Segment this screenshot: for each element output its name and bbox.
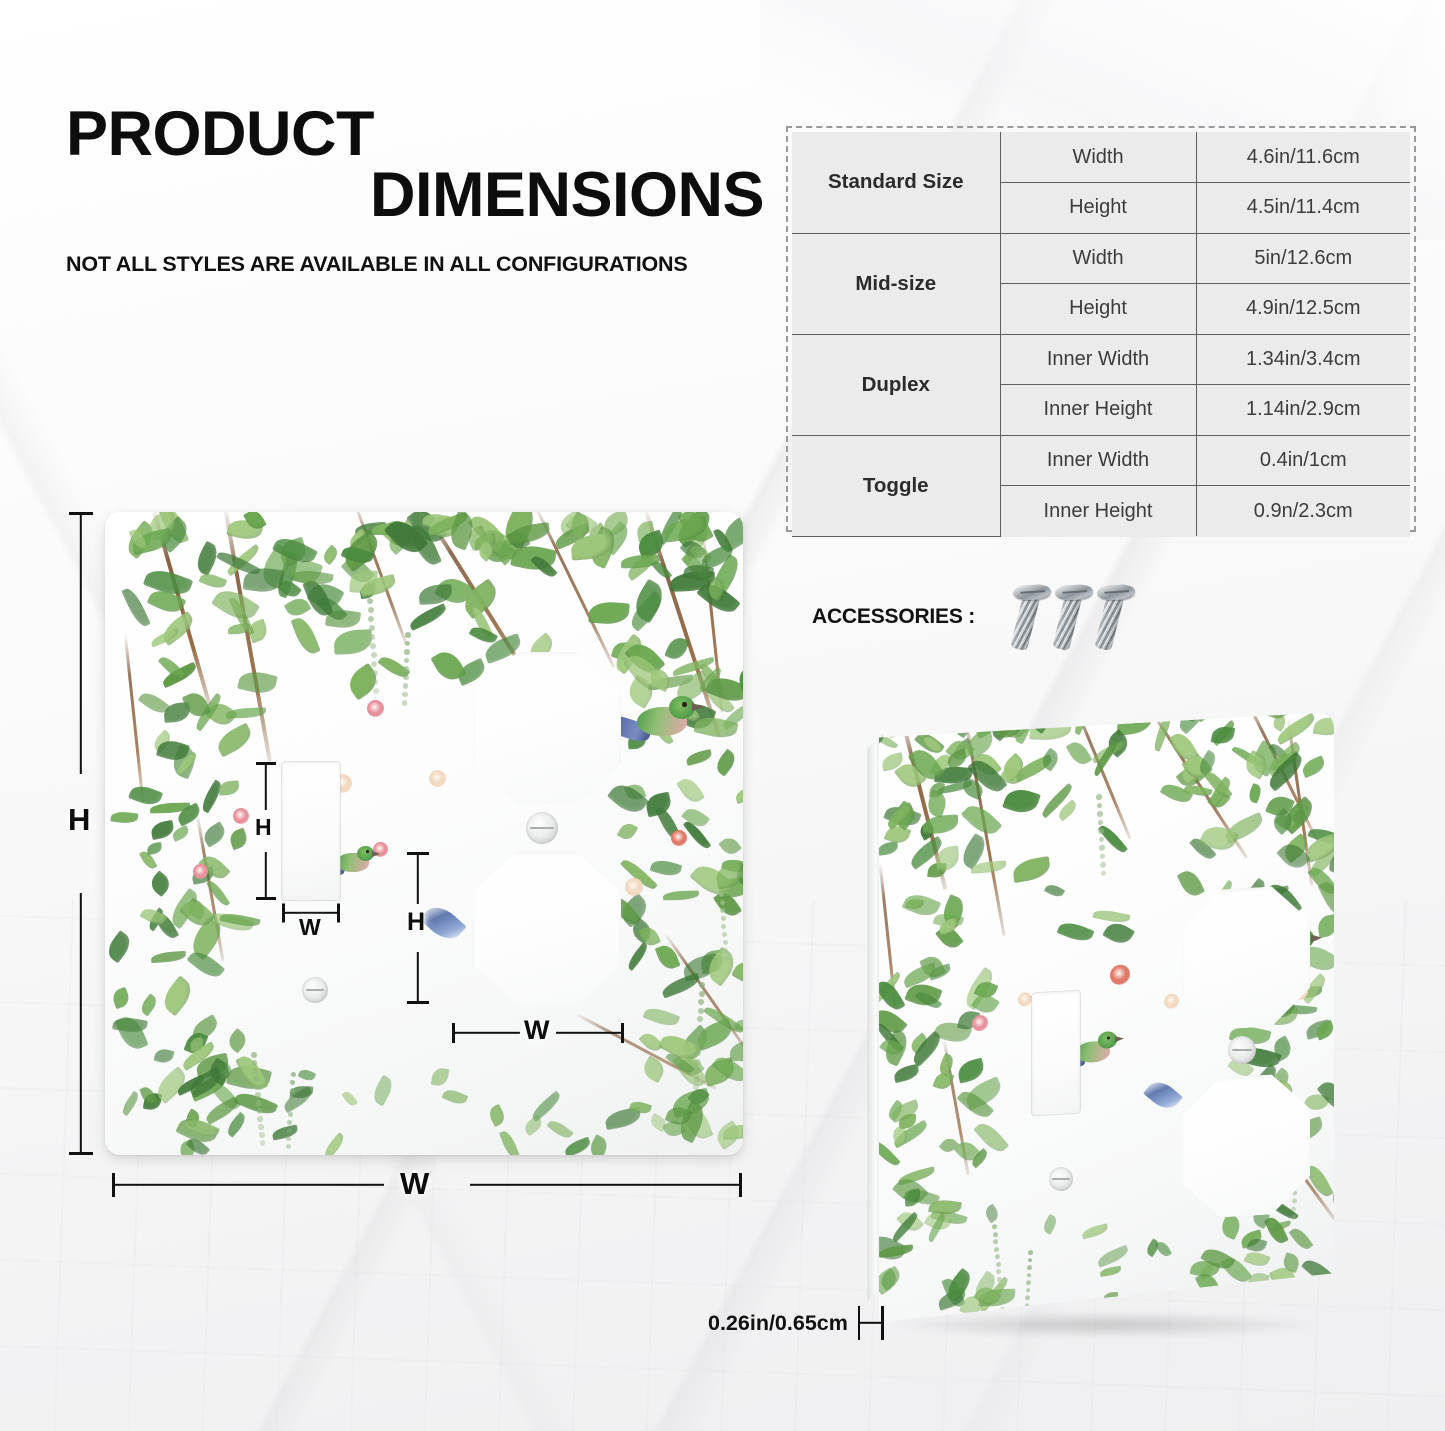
- leaf-shape: [1289, 1225, 1314, 1253]
- leaf-shape: [150, 730, 174, 754]
- leaf-shape: [1269, 1264, 1297, 1291]
- leaf-shape: [878, 1035, 904, 1059]
- leaf-shape: [149, 628, 181, 648]
- leaf-shape: [194, 1053, 230, 1079]
- leaf-shape: [146, 512, 180, 540]
- leaf-shape: [683, 819, 712, 852]
- leaf-shape: [970, 1271, 999, 1303]
- leaf-shape: [570, 534, 613, 561]
- branch-shape: [151, 512, 213, 711]
- leaf-shape: [277, 537, 308, 567]
- leaf-shape: [1039, 747, 1063, 772]
- leaf-shape: [530, 553, 557, 581]
- leaf-shape: [906, 898, 925, 910]
- vine-dot: [697, 1016, 703, 1022]
- leaf-shape: [146, 842, 163, 856]
- leaf-shape: [928, 964, 952, 982]
- leaf-shape: [338, 530, 384, 573]
- vine-dot: [696, 1033, 702, 1039]
- leaf-shape: [418, 584, 452, 605]
- vine-dot: [403, 683, 409, 689]
- leaf-shape: [937, 1053, 957, 1077]
- vine-dot: [695, 1059, 701, 1065]
- leaf-shape: [487, 1103, 508, 1126]
- flower-shape: [233, 808, 249, 824]
- bird-body: [637, 707, 686, 736]
- leaf-shape: [1183, 783, 1212, 798]
- flower-shape: [1164, 993, 1179, 1009]
- leaf-shape: [629, 579, 669, 624]
- leaf-shape: [903, 1186, 941, 1209]
- leaf-shape: [499, 1129, 520, 1155]
- vine-dot: [1291, 1214, 1296, 1220]
- leaf-shape: [679, 699, 717, 734]
- leaf-shape: [406, 512, 448, 549]
- leaf-shape: [1041, 1214, 1059, 1235]
- leaf-shape: [290, 1085, 314, 1098]
- leaf-shape: [1145, 1239, 1162, 1258]
- leaf-shape: [658, 1029, 702, 1064]
- vine-dot: [287, 1120, 292, 1125]
- leaf-shape: [1300, 755, 1327, 778]
- leaf-shape: [1247, 740, 1282, 777]
- vine-dot: [370, 643, 376, 649]
- vine-dot: [255, 1092, 261, 1098]
- leaf-shape: [1222, 811, 1266, 843]
- vine-dot: [997, 1276, 1002, 1281]
- spec-property: Width: [1000, 233, 1196, 284]
- leaf-shape: [937, 780, 972, 794]
- vine-dot: [696, 1042, 702, 1048]
- vine-dot: [723, 940, 728, 945]
- leaf-shape: [677, 1053, 704, 1080]
- leaf-shape: [885, 1100, 905, 1122]
- vine-dot: [289, 1096, 294, 1101]
- leaf-shape: [112, 1015, 148, 1034]
- branch-shape: [1243, 712, 1320, 844]
- leaf-shape: [883, 823, 910, 847]
- leaf-shape: [475, 539, 498, 562]
- leaf-shape: [1002, 785, 1041, 817]
- leaf-shape: [1219, 1253, 1252, 1288]
- leaf-shape: [454, 657, 488, 686]
- leaf-shape: [896, 1208, 924, 1236]
- bird-beak: [1115, 1036, 1124, 1043]
- leaf-shape: [383, 514, 428, 560]
- leaf-shape: [306, 578, 344, 613]
- leaf-shape: [963, 727, 998, 760]
- leaf-shape: [1318, 877, 1334, 920]
- leaf-shape: [713, 888, 742, 920]
- leaf-shape: [712, 1052, 743, 1087]
- leaf-shape: [246, 618, 269, 643]
- vine-dot: [1027, 1273, 1032, 1278]
- leaf-shape: [648, 674, 694, 690]
- leaf-shape: [110, 810, 138, 824]
- leaf-shape: [664, 635, 690, 664]
- leaf-shape: [956, 1058, 986, 1084]
- leaf-shape: [1273, 753, 1291, 774]
- vine-dot: [694, 1067, 700, 1073]
- spec-property: Width: [1000, 132, 1196, 183]
- table-row: DuplexInner Width1.34in/3.4cm: [792, 334, 1410, 385]
- leaf-shape: [977, 1277, 1011, 1313]
- thickness-label: 0.26in/0.65cm: [708, 1311, 848, 1336]
- leaf-shape: [951, 712, 977, 738]
- leaf-shape: [227, 828, 249, 850]
- leaf-shape: [1189, 835, 1216, 863]
- bird-head: [669, 696, 695, 719]
- leaf-shape: [672, 671, 711, 705]
- spec-property: Inner Height: [1000, 486, 1196, 537]
- leaf-shape: [607, 778, 649, 819]
- vine-dot: [693, 1084, 699, 1090]
- leaf-shape: [284, 595, 312, 621]
- leaf-shape: [973, 1283, 1001, 1310]
- leaf-shape: [961, 799, 1003, 840]
- leaf-shape: [320, 545, 340, 565]
- leaf-shape: [192, 692, 225, 731]
- leaf-shape: [343, 662, 382, 700]
- duplex-height-dimension: H: [404, 852, 432, 1004]
- leaf-shape: [958, 833, 991, 870]
- botanical-artwork: [105, 512, 743, 1155]
- leaf-shape: [219, 911, 260, 929]
- leaf-shape: [696, 577, 740, 618]
- leaf-shape: [1066, 738, 1093, 769]
- leaf-shape: [899, 1114, 916, 1130]
- leaf-shape: [272, 532, 318, 568]
- leaf-shape: [681, 804, 710, 831]
- leaf-shape: [705, 577, 729, 602]
- leaf-shape: [369, 1074, 396, 1106]
- vine-dot: [1025, 1295, 1030, 1300]
- leaf-shape: [1247, 783, 1264, 804]
- vine-dot: [286, 1144, 291, 1149]
- leaf-shape: [288, 555, 324, 588]
- leaf-shape: [665, 1049, 694, 1075]
- leaf-shape: [281, 1086, 315, 1114]
- vine-dot: [252, 1060, 258, 1066]
- leaf-shape: [1117, 712, 1153, 735]
- leaf-shape: [999, 764, 1025, 788]
- leaf-shape: [675, 698, 701, 725]
- leaf-shape: [654, 942, 680, 972]
- leaf-shape: [697, 667, 725, 693]
- leaf-shape: [588, 600, 629, 625]
- leaf-shape: [277, 577, 302, 601]
- leaf-shape: [714, 861, 743, 889]
- leaf-shape: [1269, 751, 1299, 772]
- leaf-shape: [177, 1139, 197, 1155]
- leaf-shape: [914, 729, 945, 758]
- accessories-section: ACCESSORIES :: [812, 584, 1125, 650]
- vine-dot: [291, 1072, 296, 1077]
- leaf-shape: [1031, 713, 1052, 734]
- vine-dot: [405, 641, 411, 647]
- flower-shape: [972, 1015, 988, 1032]
- leaf-shape: [970, 1148, 991, 1169]
- vine-dot: [403, 666, 409, 672]
- leaf-shape: [1155, 1239, 1172, 1259]
- flower-shape: [367, 700, 384, 717]
- vine-dot: [368, 607, 374, 613]
- leaf-shape: [643, 1004, 680, 1029]
- leaf-shape: [186, 947, 224, 982]
- leaf-shape: [1247, 1270, 1270, 1291]
- wall-plate-front-view: [105, 512, 743, 1155]
- leaf-shape: [587, 522, 608, 542]
- leaf-shape: [273, 552, 302, 599]
- leaf-shape: [585, 525, 620, 568]
- leaf-shape: [224, 543, 262, 576]
- leaf-shape: [945, 736, 975, 765]
- leaf-shape: [1241, 712, 1279, 722]
- leaf-shape: [707, 553, 743, 599]
- leaf-shape: [973, 1118, 1008, 1156]
- leaf-shape: [224, 1111, 249, 1138]
- vine-dot: [697, 1025, 703, 1031]
- leaf-shape: [617, 821, 638, 843]
- flower-shape: [193, 864, 208, 879]
- leaf-shape: [878, 841, 899, 856]
- leaf-shape: [922, 734, 943, 757]
- leaf-shape: [1240, 1229, 1264, 1249]
- vine-dot: [995, 1254, 1000, 1259]
- leaf-shape: [1279, 795, 1319, 834]
- leaf-shape: [333, 629, 372, 654]
- vine-dot: [1028, 1258, 1033, 1263]
- vine-dot: [286, 1136, 291, 1141]
- leaf-shape: [1190, 1258, 1221, 1280]
- leaf-shape: [625, 942, 651, 971]
- leaf-shape: [481, 534, 514, 567]
- leaf-shape: [395, 518, 416, 545]
- leaf-shape: [236, 1052, 269, 1094]
- leaf-shape: [890, 1211, 921, 1242]
- leaf-shape: [1281, 833, 1312, 863]
- spec-value: 0.9n/2.3cm: [1196, 486, 1410, 537]
- leaf-shape: [677, 1024, 713, 1060]
- leaf-shape: [1241, 750, 1271, 780]
- leaf-shape: [1281, 1252, 1302, 1273]
- leaf-shape: [1010, 712, 1040, 744]
- toggle-width-label: W: [299, 916, 321, 939]
- leaf-shape: [138, 994, 160, 1017]
- leaf-shape: [379, 514, 418, 553]
- leaf-shape: [640, 1056, 668, 1084]
- leaf-shape: [242, 565, 283, 594]
- leaf-shape: [1104, 1292, 1118, 1301]
- leaf-shape: [712, 1120, 743, 1150]
- vine-dot: [367, 598, 373, 604]
- leaf-shape: [654, 805, 681, 843]
- leaf-shape: [894, 758, 927, 792]
- leaf-shape: [1316, 1077, 1334, 1117]
- leaf-shape: [730, 1039, 743, 1061]
- leaf-shape: [174, 751, 200, 776]
- vine-dot: [720, 900, 725, 905]
- leaf-shape: [1176, 762, 1206, 791]
- leaf-shape: [210, 583, 260, 627]
- vine-dot: [372, 679, 378, 685]
- branch-shape: [196, 813, 225, 961]
- leaf-shape: [1013, 754, 1053, 782]
- leaf-shape: [563, 1137, 593, 1155]
- leaf-shape: [428, 512, 461, 542]
- vine-dot: [1097, 802, 1103, 808]
- vine-dot: [994, 1246, 999, 1251]
- leaf-shape: [493, 535, 523, 565]
- leaf-shape: [217, 1061, 235, 1079]
- leaf-shape: [355, 521, 387, 535]
- leaf-shape: [939, 895, 968, 929]
- leaf-shape: [659, 972, 701, 998]
- leaf-shape: [121, 585, 151, 629]
- leaf-shape: [671, 657, 715, 677]
- leaf-shape: [874, 977, 905, 1015]
- spec-property: Inner Width: [1000, 435, 1196, 486]
- leaf-shape: [650, 558, 672, 581]
- leaf-shape: [1195, 712, 1220, 722]
- leaf-shape: [150, 819, 175, 839]
- leaf-shape: [105, 931, 134, 964]
- leaf-shape: [737, 1110, 743, 1141]
- page-title: PRODUCT DIMENSIONS NOT ALL STYLES ARE AV…: [66, 104, 766, 277]
- leaf-shape: [628, 732, 647, 749]
- leaf-shape: [1178, 754, 1210, 786]
- screw-shaft: [1052, 595, 1082, 652]
- leaf-shape: [128, 782, 164, 810]
- leaf-shape: [670, 571, 716, 592]
- vine-dot: [373, 688, 379, 694]
- bird-beak: [372, 851, 380, 857]
- leaf-shape: [1096, 1245, 1130, 1269]
- leaf-shape: [122, 520, 159, 560]
- leaf-shape: [969, 712, 1007, 739]
- leaf-shape: [636, 521, 656, 543]
- vine-dot: [998, 1284, 1003, 1289]
- leaf-shape: [933, 911, 964, 930]
- leaf-shape: [967, 755, 1007, 798]
- leaf-shape: [1045, 712, 1086, 728]
- leaf-shape: [442, 1087, 469, 1108]
- leaf-shape: [349, 569, 377, 594]
- leaf-shape: [701, 1057, 737, 1087]
- leaf-shape: [226, 708, 266, 719]
- leaf-shape: [600, 512, 632, 537]
- leaf-shape: [479, 523, 521, 565]
- leaf-shape: [1317, 914, 1334, 938]
- screw-icon: [1088, 581, 1133, 652]
- leaf-shape: [114, 1012, 148, 1053]
- flower-shape: [625, 878, 643, 896]
- leaf-shape: [902, 962, 939, 989]
- leaf-shape: [650, 857, 682, 879]
- spec-category: Duplex: [792, 334, 1000, 435]
- branch-shape: [1073, 712, 1132, 839]
- leaf-shape: [971, 990, 1000, 1017]
- leaf-shape: [1191, 712, 1222, 722]
- leaf-shape: [624, 637, 665, 679]
- leaf-shape: [1276, 839, 1311, 875]
- bird-beak: [692, 703, 705, 711]
- spec-category: Standard Size: [792, 132, 1000, 233]
- leaf-shape: [483, 530, 515, 564]
- leaf-shape: [953, 1137, 981, 1165]
- vine-dot: [288, 1112, 293, 1117]
- duplex-screw-hole-angled: [1228, 1036, 1256, 1064]
- leaf-shape: [918, 821, 938, 841]
- leaf-shape: [951, 738, 972, 758]
- vine-dot: [369, 625, 375, 631]
- vine-dot: [258, 1124, 264, 1130]
- vine-dot: [1027, 1265, 1032, 1270]
- leaf-shape: [933, 1018, 973, 1047]
- leaf-shape: [200, 821, 229, 848]
- bird-eye: [366, 850, 369, 853]
- leaf-shape: [689, 859, 735, 902]
- leaf-shape: [325, 608, 361, 631]
- duplex-outlet-cutout-bottom-angled: [1182, 1072, 1310, 1220]
- leaf-shape: [932, 1070, 954, 1091]
- leaf-shape: [228, 623, 251, 634]
- branch-shape: [1286, 718, 1313, 886]
- vine-dot: [403, 675, 409, 681]
- thickness-dimension: 0.26in/0.65cm: [708, 1306, 884, 1340]
- vine-dot: [1291, 1206, 1296, 1212]
- leaf-shape: [670, 1087, 712, 1118]
- bird-body: [336, 853, 368, 872]
- leaf-shape: [679, 527, 711, 564]
- leaf-shape: [521, 1115, 544, 1136]
- spec-property: Inner Width: [1000, 334, 1196, 385]
- leaf-shape: [1268, 712, 1292, 722]
- leaf-shape: [936, 922, 964, 952]
- leaf-shape: [469, 623, 498, 646]
- screw-icon: [1004, 581, 1049, 652]
- vine-dot: [699, 982, 705, 988]
- vine-dot: [723, 948, 728, 953]
- vine-dot: [996, 1269, 1001, 1274]
- leaf-shape: [298, 1067, 316, 1082]
- toggle-width-dimension: W: [282, 900, 340, 926]
- leaf-shape: [359, 582, 377, 599]
- toggle-height-label: H: [255, 816, 272, 839]
- leaf-shape: [620, 856, 658, 893]
- leaf-shape: [1152, 712, 1176, 751]
- leaf-shape: [637, 924, 661, 950]
- leaf-shape: [188, 1073, 228, 1102]
- branch-shape: [354, 512, 408, 645]
- leaf-shape: [1039, 782, 1076, 818]
- vine-dot: [1025, 1303, 1030, 1308]
- leaf-shape: [166, 888, 203, 930]
- vine-dot: [257, 1116, 263, 1122]
- leaf-shape: [881, 752, 904, 772]
- vine-dot: [260, 1140, 266, 1146]
- leaf-shape: [1326, 845, 1334, 873]
- leaf-shape: [934, 765, 973, 784]
- leaf-shape: [156, 516, 193, 553]
- leaf-shape: [648, 1113, 670, 1133]
- leaf-shape: [877, 1266, 903, 1291]
- leaf-shape: [639, 1029, 664, 1055]
- leaf-shape: [680, 536, 707, 563]
- leaf-shape: [210, 909, 254, 936]
- leaf-shape: [171, 826, 191, 843]
- leaf-shape: [621, 554, 661, 567]
